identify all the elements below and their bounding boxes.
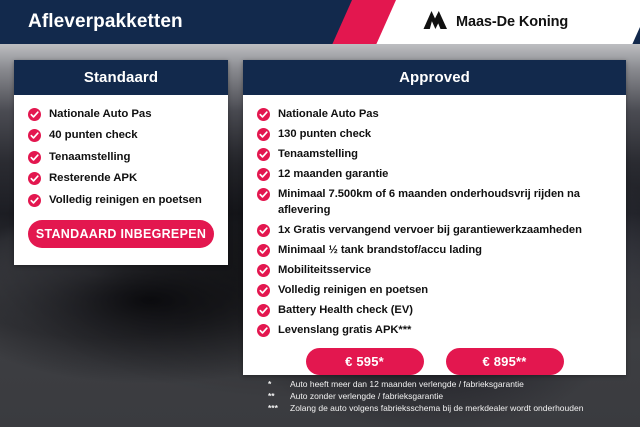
page-title: Afleverpakketten: [28, 0, 183, 44]
feature-label: Mobiliteitsservice: [278, 263, 371, 278]
feature-label: Volledig reinigen en poetsen: [49, 193, 202, 208]
feature-list-approved: Nationale Auto Pas 130 punten check Tena…: [257, 107, 612, 338]
check-circle-icon: [28, 129, 41, 142]
button-label: STANDAARD INBEGREPEN: [36, 227, 206, 241]
list-item: Minimaal 7.500km of 6 maanden onderhouds…: [257, 187, 612, 217]
price-button-895[interactable]: € 895**: [446, 348, 564, 375]
footnote-item: ** Auto zonder verlengde / fabrieksgaran…: [268, 391, 633, 402]
list-item: Levenslang gratis APK***: [257, 323, 612, 338]
footnote-text: Auto zonder verlengde / fabrieksgarantie: [290, 391, 443, 402]
list-item: Nationale Auto Pas: [257, 107, 612, 122]
feature-label: Tenaamstelling: [49, 150, 130, 165]
check-circle-icon: [28, 108, 41, 121]
footnote-item: *** Zolang de auto volgens fabrieksschem…: [268, 403, 633, 414]
feature-label: 130 punten check: [278, 127, 371, 142]
card-body-approved: Nationale Auto Pas 130 punten check Tena…: [243, 95, 626, 375]
card-header-standaard: Standaard: [14, 60, 228, 95]
check-circle-icon: [257, 128, 270, 141]
brand-lockup: Maas-De Koning: [422, 0, 568, 44]
list-item: 130 punten check: [257, 127, 612, 142]
footnote-marker: ***: [268, 403, 290, 414]
feature-label: Minimaal 7.500km of 6 maanden onderhouds…: [278, 187, 612, 217]
feature-label: Tenaamstelling: [278, 147, 358, 162]
check-circle-icon: [257, 284, 270, 297]
list-item: Volledig reinigen en poetsen: [28, 193, 214, 208]
feature-label: Levenslang gratis APK***: [278, 323, 411, 338]
check-circle-icon: [28, 151, 41, 164]
price-label: € 895**: [482, 354, 526, 369]
list-item: Tenaamstelling: [28, 150, 214, 165]
footnote-list: * Auto heeft meer dan 12 maanden verleng…: [268, 379, 633, 415]
price-label: € 595*: [345, 354, 384, 369]
package-card-standaard: Standaard Nationale Auto Pas 40 punten c…: [14, 60, 228, 265]
feature-label: Resterende APK: [49, 171, 137, 186]
feature-label: 12 maanden garantie: [278, 167, 388, 182]
list-item: Mobiliteitsservice: [257, 263, 612, 278]
list-item: Nationale Auto Pas: [28, 107, 214, 122]
list-item: Battery Health check (EV): [257, 303, 612, 318]
header-bar: Afleverpakketten Maas-De Koning: [0, 0, 640, 44]
feature-list-standaard: Nationale Auto Pas 40 punten check Tenaa…: [28, 107, 214, 208]
card-body-standaard: Nationale Auto Pas 40 punten check Tenaa…: [14, 95, 228, 208]
card-title: Standaard: [84, 69, 158, 86]
maas-de-koning-m-logo-icon: [422, 10, 448, 35]
package-card-approved: Approved Nationale Auto Pas 130 punten c…: [243, 60, 626, 375]
card-header-approved: Approved: [243, 60, 626, 95]
list-item: 1x Gratis vervangend vervoer bij garanti…: [257, 223, 612, 238]
check-circle-icon: [257, 304, 270, 317]
check-circle-icon: [28, 194, 41, 207]
check-circle-icon: [257, 188, 270, 201]
list-item: 12 maanden garantie: [257, 167, 612, 182]
check-circle-icon: [257, 244, 270, 257]
check-circle-icon: [28, 172, 41, 185]
check-circle-icon: [257, 224, 270, 237]
list-item: Minimaal ½ tank brandstof/accu lading: [257, 243, 612, 258]
check-circle-icon: [257, 168, 270, 181]
feature-label: 40 punten check: [49, 128, 138, 143]
check-circle-icon: [257, 148, 270, 161]
footnote-text: Auto heeft meer dan 12 maanden verlengde…: [290, 379, 524, 390]
list-item: 40 punten check: [28, 128, 214, 143]
list-item: Resterende APK: [28, 171, 214, 186]
list-item: Tenaamstelling: [257, 147, 612, 162]
card-title: Approved: [399, 69, 470, 86]
list-item: Volledig reinigen en poetsen: [257, 283, 612, 298]
footnote-marker: *: [268, 379, 290, 390]
standaard-inbegrepen-button[interactable]: STANDAARD INBEGREPEN: [28, 220, 214, 248]
feature-label: Minimaal ½ tank brandstof/accu lading: [278, 243, 482, 258]
feature-label: 1x Gratis vervangend vervoer bij garanti…: [278, 223, 582, 238]
price-button-row: € 595* € 895**: [257, 348, 612, 375]
feature-label: Nationale Auto Pas: [49, 107, 151, 122]
check-circle-icon: [257, 108, 270, 121]
footnote-item: * Auto heeft meer dan 12 maanden verleng…: [268, 379, 633, 390]
feature-label: Volledig reinigen en poetsen: [278, 283, 428, 298]
slide-root: Afleverpakketten Maas-De Koning Standaar…: [0, 0, 640, 427]
feature-label: Nationale Auto Pas: [278, 107, 379, 122]
feature-label: Battery Health check (EV): [278, 303, 413, 318]
price-button-595[interactable]: € 595*: [306, 348, 424, 375]
check-circle-icon: [257, 324, 270, 337]
footnote-marker: **: [268, 391, 290, 402]
footnote-text: Zolang de auto volgens fabrieksschema bi…: [290, 403, 583, 414]
check-circle-icon: [257, 264, 270, 277]
brand-name: Maas-De Koning: [456, 14, 568, 30]
